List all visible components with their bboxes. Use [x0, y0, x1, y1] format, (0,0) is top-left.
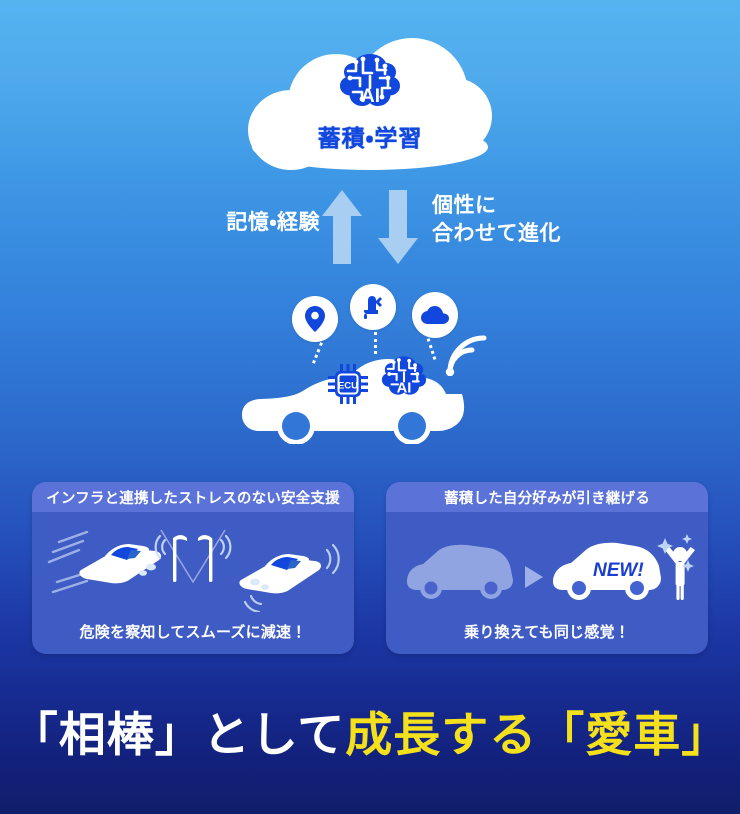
two-cars-with-roadside-sensors-illustration: [32, 518, 354, 614]
new-badge-text: NEW!: [593, 560, 644, 581]
cloud-module: AI 蓄積・学習: [248, 38, 492, 170]
headline-part-yellow: 成長する「愛車」: [345, 708, 729, 761]
ecu-label: ECU: [338, 381, 358, 392]
connected-car-scene: ECU AI: [230, 286, 510, 446]
ai-badge-text: AI: [361, 86, 380, 107]
cloud-label: 蓄積・学習: [318, 119, 423, 153]
ai-brain-icon: AI: [332, 52, 408, 117]
panel-preference-transfer: 蓄積した自分好みが引き継げる: [386, 482, 708, 654]
panel-body: NEW!: [386, 512, 708, 654]
feature-panels: インフラと連携したストレスのない安全支援: [32, 482, 708, 654]
arrow-down-icon: [378, 190, 418, 264]
panel-body: 危険を察知してスムーズに減速！: [32, 512, 354, 654]
flow-down-label-line1: 個性に: [432, 192, 622, 220]
location-pin-icon: [292, 296, 338, 342]
ai-badge-text: AI: [397, 380, 412, 396]
panel-header: インフラと連携したストレスのない安全支援: [32, 482, 354, 512]
panel-header: 蓄積した自分好みが引き継げる: [386, 482, 708, 512]
flow-up-label: 記憶・経験: [170, 206, 320, 236]
panel-caption: 乗り換えても同じ感覚！: [386, 621, 708, 642]
flow-row: 記憶・経験 個性に 合わせて進化: [0, 182, 740, 272]
ecu-chip-icon: ECU: [326, 362, 370, 411]
flow-down-label: 個性に 合わせて進化: [432, 192, 622, 249]
infographic-root: AI 蓄積・学習 記憶・経験 個性に 合わせて進化: [0, 0, 740, 814]
wifi-signal-icon: [444, 332, 492, 381]
panel-infrastructure-safety: インフラと連携したストレスのない安全支援: [32, 482, 354, 654]
old-car-arrow-new-car-person-illustration: NEW!: [386, 518, 708, 614]
headline-part-white: 「相棒」として: [11, 708, 346, 761]
panel-caption: 危険を察知してスムーズに減速！: [32, 621, 354, 642]
page-title: 「相棒」として成長する「愛車」: [0, 696, 740, 765]
arrow-up-icon: [322, 190, 362, 264]
ai-brain-icon: AI: [376, 352, 432, 407]
flow-down-label-line2: 合わせて進化: [432, 220, 622, 248]
car-seat-icon: [350, 284, 396, 330]
